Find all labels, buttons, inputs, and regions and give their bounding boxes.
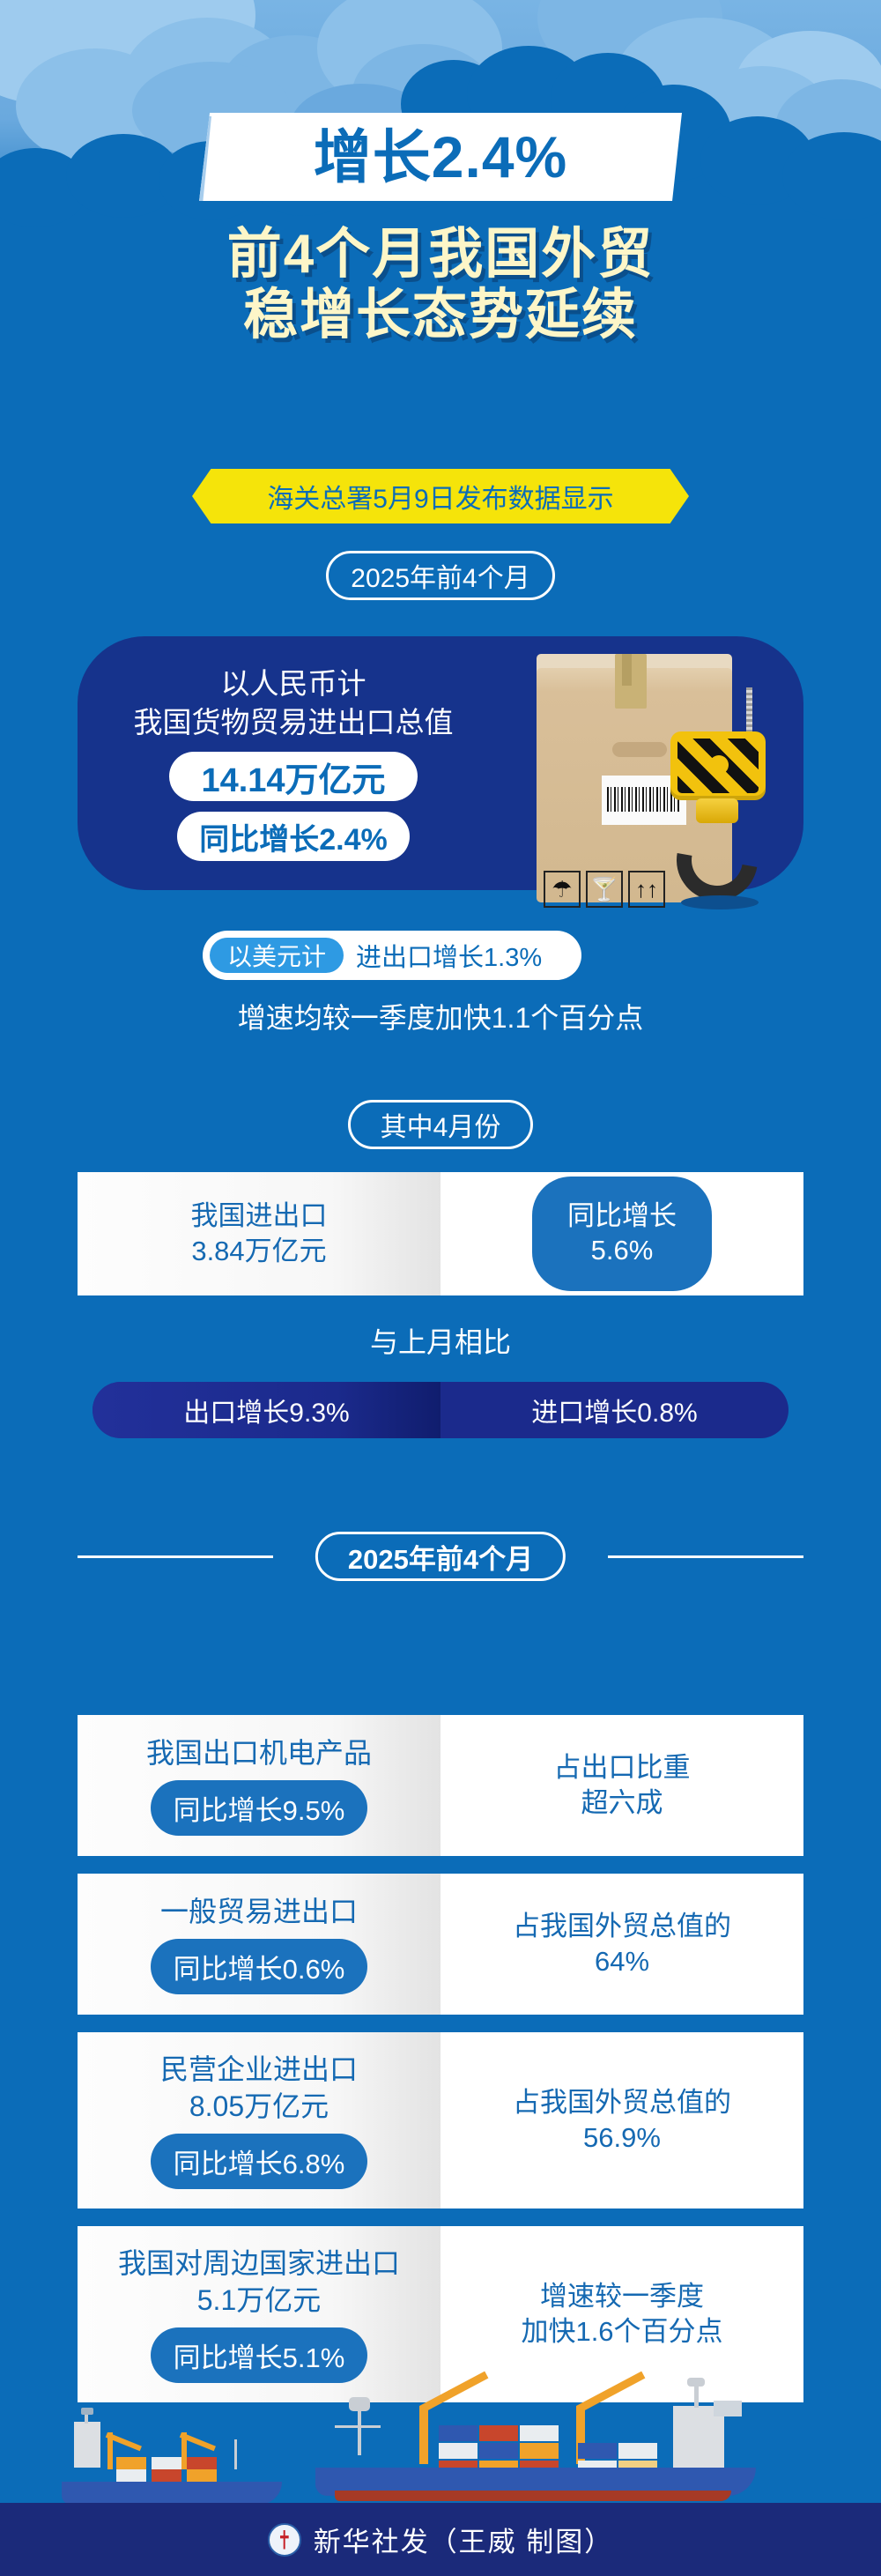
large-cargo-ship-icon [315, 2387, 791, 2501]
mom-split-bar: 出口增长9.3% 进口增长0.8% [93, 1382, 788, 1438]
container [152, 2457, 181, 2469]
ship-yard [335, 2425, 381, 2428]
container [187, 2457, 217, 2469]
rmb-panel-text: 以人民币计 我国货物贸易进出口总值 14.14万亿元 同比增长2.4% [104, 664, 483, 861]
page-title-line2: 稳增长态势延续 [0, 285, 881, 345]
rmb-growth-value: 同比增长2.4% [177, 812, 410, 861]
stat-card-right: 占出口比重 超六成 [440, 1715, 803, 1856]
ship-hull [62, 2482, 282, 2505]
usd-row: 以美元计 进出口增长1.3% [203, 931, 581, 980]
april-card-left: 我国进出口 3.84万亿元 [78, 1172, 440, 1295]
xinhua-logo-icon [268, 2523, 301, 2557]
stat-left-line2: 8.05万亿元 [189, 2089, 329, 2126]
ship-radar [81, 2408, 93, 2415]
stat-right-line2: 64% [595, 1944, 649, 1979]
container [439, 2443, 478, 2459]
stat-right-line1: 占我国外贸总值的 [513, 2085, 731, 2120]
source-banner: 海关总署5月9日发布数据显示 [192, 469, 689, 523]
usd-note: 增速均较一季度加快1.1个百分点 [0, 996, 881, 1036]
april-left-line1: 我国进出口 [191, 1199, 328, 1234]
source-banner-text: 海关总署5月9日发布数据显示 [267, 477, 613, 516]
cargo-box-icon: ☂ 🍸 ↑↑ [515, 635, 806, 934]
mom-import-value: 进口增长0.8% [440, 1382, 788, 1438]
rmb-total-value: 14.14万亿元 [169, 752, 418, 801]
fragile-glass-icon: 🍸 [586, 871, 623, 908]
stat-right-line2: 超六成 [581, 1785, 663, 1821]
usd-tag: 以美元计 [210, 938, 344, 973]
stat-left-line: 一般贸易进出口 [160, 1894, 358, 1931]
container [479, 2443, 518, 2459]
container [578, 2443, 617, 2459]
stat-left-chip: 同比增长5.1% [151, 2327, 368, 2383]
page-title-line1: 前4个月我国外贸 [0, 224, 881, 285]
stat-card-right: 占我国外贸总值的 56.9% [440, 2032, 803, 2209]
container [479, 2425, 518, 2441]
divider-rule-right [608, 1555, 803, 1558]
container [187, 2469, 217, 2482]
ship-radar [349, 2397, 370, 2411]
april-card-right: 同比增长 5.6% [440, 1172, 803, 1295]
credit-text: 新华社发（王威 制图） [314, 2520, 614, 2559]
crane-hook-bolt-icon [709, 755, 729, 775]
stat-left-chip: 同比增长6.8% [151, 2134, 368, 2189]
ships-illustration [0, 2379, 881, 2503]
ship-hull-waterline [335, 2491, 731, 2501]
stat-card-right: 增速较一季度 加快1.6个百分点 [440, 2226, 803, 2402]
stat-left-line1: 民营企业进出口 [160, 2052, 358, 2089]
stat-right-line2: 56.9% [583, 2120, 661, 2156]
period-pill-top: 2025年前4个月 [326, 551, 555, 600]
stat-card: 民营企业进出口 8.05万亿元 同比增长6.8% 占我国外贸总值的 56.9% [78, 2032, 803, 2209]
hook-shadow [681, 895, 759, 909]
stat-card-left: 一般贸易进出口 同比增长0.6% [78, 1874, 440, 2015]
stat-card: 一般贸易进出口 同比增长0.6% 占我国外贸总值的 64% [78, 1874, 803, 2015]
mom-export-value: 出口增长9.3% [93, 1382, 440, 1438]
container [520, 2443, 559, 2459]
footer-credit: 新华社发（王威 制图） [0, 2503, 881, 2576]
rmb-line1: 以人民币计 [104, 664, 483, 703]
usd-value: 进出口增长1.3% [356, 937, 542, 974]
period-pill-top-label: 2025年前4个月 [351, 556, 529, 595]
stat-right-line2: 加快1.6个百分点 [521, 2314, 722, 2350]
ship-bridge [74, 2422, 100, 2468]
container [618, 2443, 657, 2459]
divider-label: 2025年前4个月 [315, 1532, 566, 1581]
container [116, 2469, 146, 2482]
april-left-line2: 3.84万亿元 [191, 1234, 326, 1269]
april-right-line2: 5.6% [567, 1234, 677, 1268]
this-side-up-icon: ↑↑ [628, 871, 665, 908]
stat-left-line2: 5.1万亿元 [197, 2283, 322, 2320]
april-pill-label: 其中4月份 [381, 1105, 501, 1144]
container [520, 2425, 559, 2441]
infographic-poster: 增长2.4% 前4个月我国外贸 稳增长态势延续 海关总署5月9日发布数据显示 2… [0, 0, 881, 2576]
divider-rule-left [78, 1555, 273, 1558]
stat-right-line1: 占出口比重 [554, 1750, 691, 1785]
stat-left-line1: 我国对周边国家进出口 [118, 2246, 400, 2283]
stat-left-chip: 同比增长0.6% [151, 1939, 368, 1994]
rmb-line2: 我国货物贸易进出口总值 [104, 703, 483, 742]
stat-card-left: 我国出口机电产品 同比增长9.5% [78, 1715, 440, 1856]
small-cargo-ship-icon [62, 2416, 291, 2500]
section-divider: 2025年前4个月 [0, 1532, 881, 1581]
stat-card-left: 我国对周边国家进出口 5.1万亿元 同比增长5.1% [78, 2226, 440, 2402]
container [439, 2425, 478, 2441]
box-tape-strip [622, 654, 632, 686]
headline-badge-text: 增长2.4% [314, 128, 567, 186]
ship-aft-mast [234, 2439, 237, 2469]
ship-mast [358, 2404, 361, 2455]
stat-left-chip: 同比增长9.5% [151, 1780, 368, 1836]
port-crane [419, 2406, 428, 2464]
april-card: 我国进出口 3.84万亿元 同比增长 5.6% [78, 1172, 803, 1295]
ship-superstructure [673, 2406, 724, 2476]
box-handle-slot [612, 742, 667, 757]
april-pill: 其中4月份 [348, 1100, 533, 1149]
stat-card: 我国对周边国家进出口 5.1万亿元 同比增长5.1% 增速较一季度 加快1.6个… [78, 2226, 803, 2402]
headline-badge: 增长2.4% [199, 113, 682, 201]
ship-bridge-wing [714, 2401, 742, 2416]
stat-right-line1: 占我国外贸总值的 [513, 1909, 731, 1944]
umbrella-icon: ☂ [544, 871, 581, 908]
container [116, 2457, 146, 2469]
stat-card-right: 占我国外贸总值的 64% [440, 1874, 803, 2015]
stat-left-line: 我国出口机电产品 [146, 1735, 372, 1772]
title-block: 增长2.4% 前4个月我国外贸 稳增长态势延续 [0, 113, 881, 346]
stat-card-left: 民营企业进出口 8.05万亿元 同比增长6.8% [78, 2032, 440, 2209]
stat-right-line1: 增速较一季度 [540, 2279, 704, 2314]
mom-label: 与上月相比 [0, 1320, 881, 1361]
april-growth-chip: 同比增长 5.6% [532, 1177, 712, 1291]
ship-funnel-mast [694, 2383, 699, 2408]
container [152, 2469, 181, 2482]
stat-card: 我国出口机电产品 同比增长9.5% 占出口比重 超六成 [78, 1715, 803, 1856]
ship-radar [687, 2378, 705, 2387]
april-right-line1: 同比增长 [567, 1199, 677, 1234]
